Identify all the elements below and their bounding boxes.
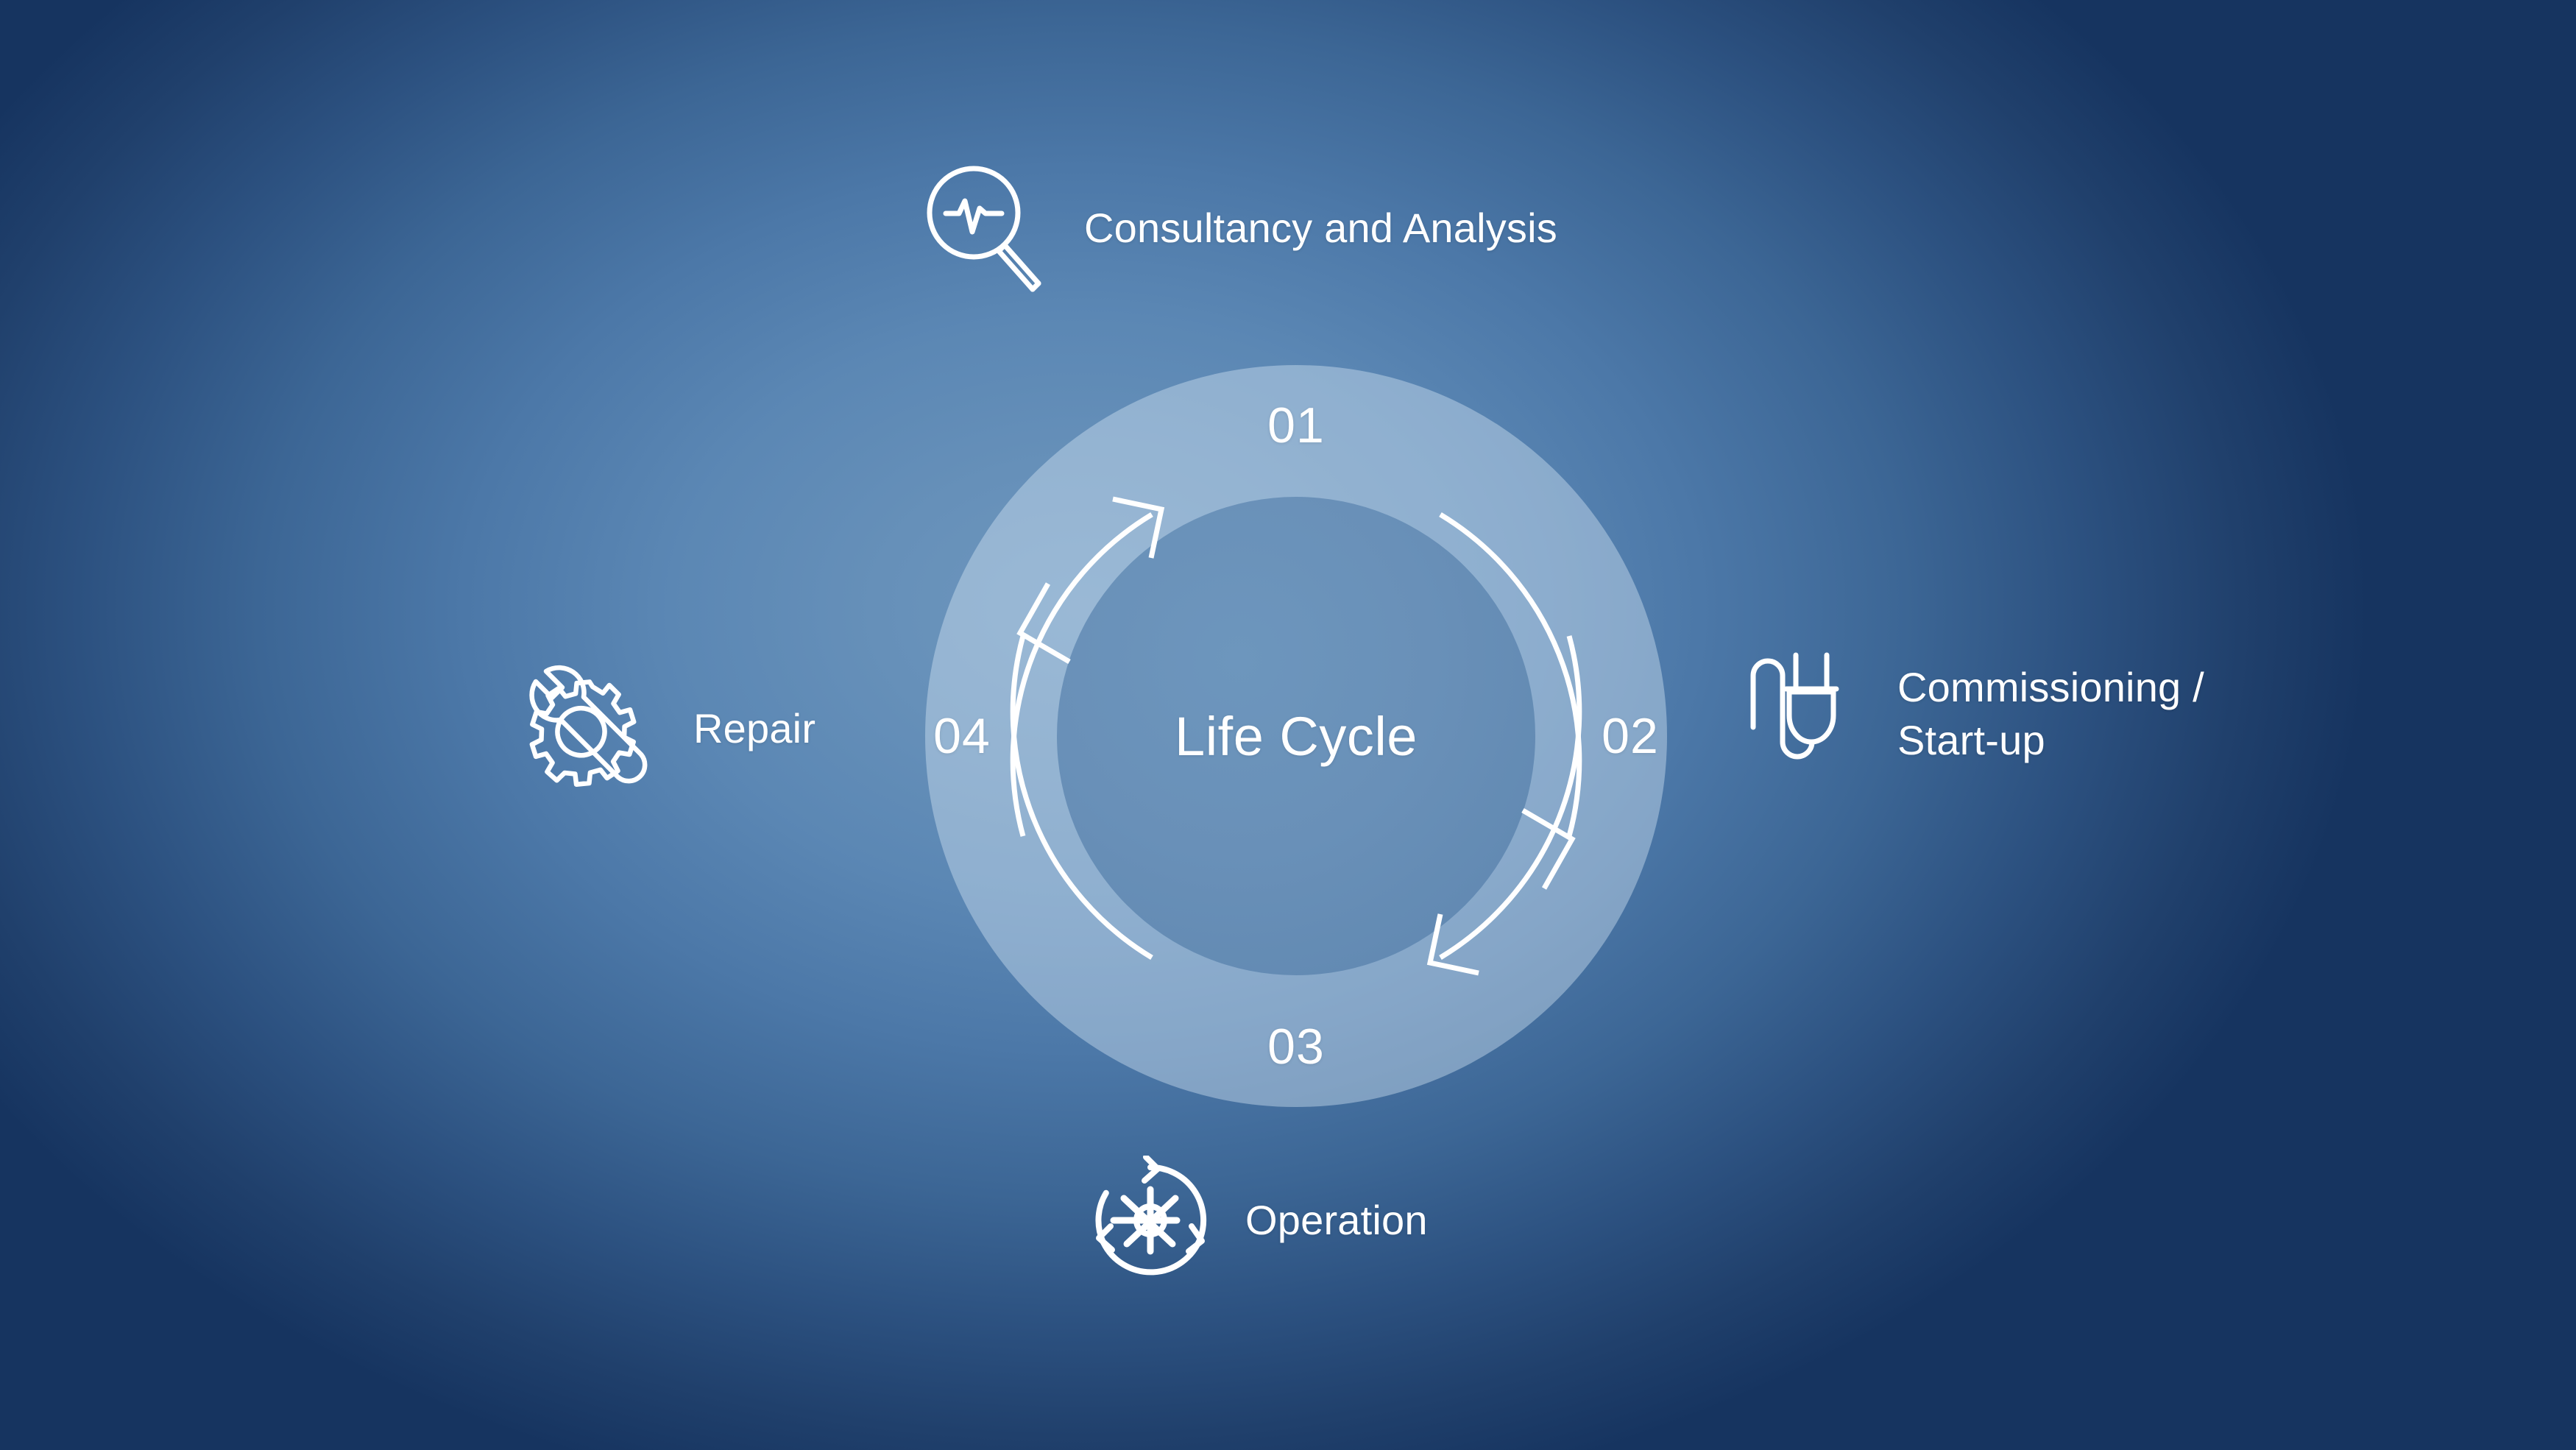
- life-cycle-slide: Life Cycle 01 02 03 04 Consultancy and A…: [0, 0, 2576, 1450]
- wrench-gear-icon: [508, 655, 655, 802]
- step-node-repair: Repair: [508, 655, 815, 802]
- step-label-commissioning: Commissioning / Start-up: [1897, 661, 2204, 766]
- step-label-consultancy: Consultancy and Analysis: [1084, 202, 1557, 255]
- magnifier-pulse-icon: [916, 158, 1056, 298]
- step-number-04: 04: [933, 711, 991, 761]
- life-cycle-ring: Life Cycle 01 02 03 04: [925, 365, 1667, 1107]
- step-number-01: 01: [1267, 400, 1325, 450]
- step-number-03: 03: [1267, 1022, 1325, 1072]
- step-label-operation: Operation: [1245, 1194, 1428, 1247]
- step-node-commissioning: Commissioning / Start-up: [1744, 648, 2204, 780]
- center-label: Life Cycle: [925, 365, 1667, 1107]
- step-number-02: 02: [1602, 711, 1659, 761]
- cycle-arrows-icon: [1086, 1156, 1214, 1284]
- step-node-consultancy: Consultancy and Analysis: [916, 158, 1557, 298]
- step-label-repair: Repair: [693, 702, 815, 755]
- power-plug-icon: [1744, 648, 1862, 780]
- step-node-operation: Operation: [1086, 1156, 1428, 1284]
